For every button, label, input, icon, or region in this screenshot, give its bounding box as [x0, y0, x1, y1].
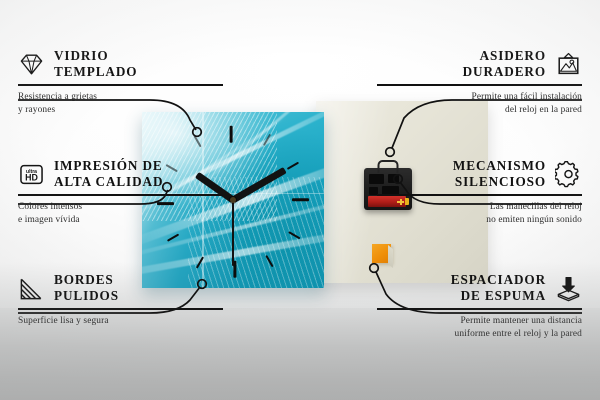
feature-title-line1: IMPRESIÓN DE: [54, 158, 163, 174]
feature-title-line1: VIDRIO: [54, 48, 137, 64]
feature-title: MECANISMO SILENCIOSO: [453, 158, 546, 190]
feature-description: Permite una fácil instalación del reloj …: [377, 91, 582, 117]
feature-desc-line1: Las manecillas del reloj: [377, 201, 582, 214]
feature-title-line1: MECANISMO: [453, 158, 546, 174]
feature-header: ASIDERO DURADERO: [377, 48, 582, 80]
clock-tick: [286, 161, 298, 170]
feature-header: MECANISMO SILENCIOSO: [377, 158, 582, 190]
clock-second-hand: [232, 200, 234, 266]
feature-title-line2: DURADERO: [463, 64, 546, 80]
feature-description: Las manecillas del reloj no emiten ningú…: [377, 201, 582, 227]
clock-tick: [230, 126, 233, 143]
polished-edge-icon: [18, 275, 45, 302]
feature-title-line2: SILENCIOSO: [453, 174, 546, 190]
feature-divider: [377, 308, 582, 309]
feature-description: Permite mantener una distancia uniforme …: [377, 315, 582, 341]
feature-description: Superficie lisa y segura: [18, 315, 223, 328]
feature-header: BORDES PULIDOS: [18, 272, 223, 304]
feature-title-line2: PULIDOS: [54, 288, 119, 304]
feature-bordes-pulidos: BORDES PULIDOS Superficie lisa y segura: [18, 272, 223, 328]
feature-desc-line2: no emiten ningún sonido: [377, 214, 582, 227]
feature-title-line1: BORDES: [54, 272, 119, 288]
feature-description: Resistencia a grietas y rayones: [18, 91, 223, 117]
feature-title-line2: TEMPLADO: [54, 64, 137, 80]
feature-title: ESPACIADOR DE ESPUMA: [451, 272, 546, 304]
feature-mecanismo-silencioso: MECANISMO SILENCIOSO Las manecillas del …: [377, 158, 582, 227]
feature-description: Colores intensos e imagen vívida: [18, 201, 223, 227]
feature-desc-line2: del reloj en la pared: [377, 104, 582, 117]
feature-title: IMPRESIÓN DE ALTA CALIDAD: [54, 158, 163, 190]
ultra-hd-badge-icon: ultra HD: [18, 161, 45, 188]
feature-desc-line2: uniforme entre el reloj y la pared: [377, 328, 582, 341]
feature-asidero-duradero: ASIDERO DURADERO Permite una fácil insta…: [377, 48, 582, 117]
feature-title: BORDES PULIDOS: [54, 272, 119, 304]
feature-vidrio-templado: VIDRIO TEMPLADO Resistencia a grietas y …: [18, 48, 223, 117]
feature-divider: [18, 308, 223, 309]
feature-title: VIDRIO TEMPLADO: [54, 48, 137, 80]
feature-header: ultra HD IMPRESIÓN DE ALTA CALIDAD: [18, 158, 223, 190]
infographic-scene: VIDRIO TEMPLADO Resistencia a grietas y …: [0, 0, 600, 400]
feature-title-line1: ASIDERO: [463, 48, 546, 64]
feature-title-line1: ESPACIADOR: [451, 272, 546, 288]
badge-bottom-text: HD: [25, 172, 38, 182]
feature-espaciador-de-espuma: ESPACIADOR DE ESPUMA Permite mantener un…: [377, 272, 582, 341]
feature-divider: [377, 194, 582, 195]
feature-divider: [18, 194, 223, 195]
feature-title-line2: ALTA CALIDAD: [54, 174, 163, 190]
gear-icon: [555, 161, 582, 188]
feature-desc-line1: Resistencia a grietas: [18, 91, 223, 104]
feature-desc-line1: Colores intensos: [18, 201, 223, 214]
feature-desc-line1: Superficie lisa y segura: [18, 315, 223, 328]
feature-desc-line2: e imagen vívida: [18, 214, 223, 227]
feature-header: ESPACIADOR DE ESPUMA: [377, 272, 582, 304]
clock-center-hub: [230, 197, 236, 203]
feature-title-line2: DE ESPUMA: [451, 288, 546, 304]
clock-tick: [292, 198, 309, 201]
foam-spacer: [372, 244, 391, 263]
feature-impresion-alta-calidad: ultra HD IMPRESIÓN DE ALTA CALIDAD Color…: [18, 158, 223, 227]
diamond-icon: [18, 51, 45, 78]
feature-divider: [377, 84, 582, 85]
feature-desc-line2: y rayones: [18, 104, 223, 117]
feature-title: ASIDERO DURADERO: [463, 48, 546, 80]
picture-frame-hanger-icon: [555, 51, 582, 78]
feature-desc-line1: Permite una fácil instalación: [377, 91, 582, 104]
feature-header: VIDRIO TEMPLADO: [18, 48, 223, 80]
feature-divider: [18, 84, 223, 85]
press-down-pad-icon: [555, 275, 582, 302]
feature-desc-line1: Permite mantener una distancia: [377, 315, 582, 328]
